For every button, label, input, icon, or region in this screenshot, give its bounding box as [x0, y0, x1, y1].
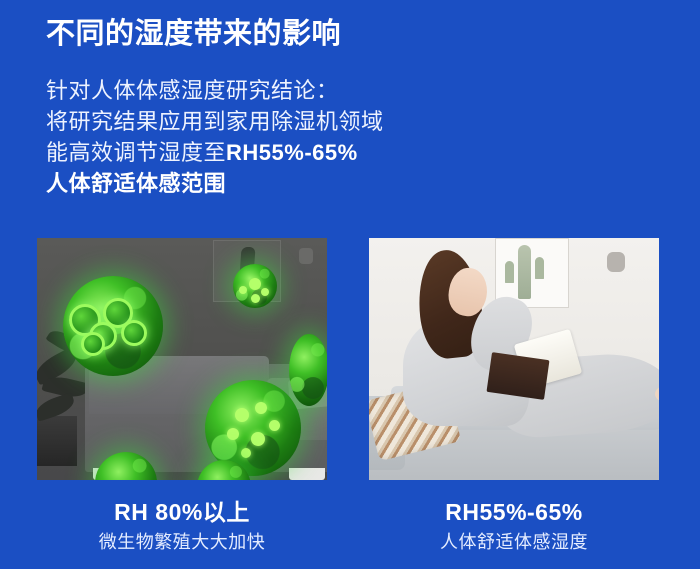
plant-pot	[37, 416, 77, 466]
intro-line-1: 针对人体体感湿度研究结论：	[46, 75, 466, 106]
caption-sub-text: 微生物繁殖大大加快	[37, 529, 327, 555]
caption-main-text: RH55%-65%	[369, 498, 659, 526]
photo-high-humidity	[37, 238, 327, 480]
microbe-virus-small	[233, 264, 277, 308]
wall-speaker-icon	[299, 248, 313, 264]
humidity-range-highlight: RH55%-65%	[226, 140, 358, 165]
intro-line-4: 人体舒适体感范围	[46, 168, 466, 199]
caption-main-text: RH 80%以上	[37, 498, 327, 526]
caption-comfort-humidity: RH55%-65% 人体舒适体感湿度	[369, 498, 659, 555]
intro-copy-block: 针对人体体感湿度研究结论： 将研究结果应用到家用除湿机领域 能高效调节湿度至RH…	[46, 75, 466, 199]
microbe-cluster-edge	[289, 334, 327, 406]
photo-comfort-humidity	[369, 238, 659, 480]
cactus-artwork	[518, 245, 531, 299]
intro-line-3: 能高效调节湿度至RH55%-65%	[46, 137, 466, 168]
microbe-cluster-edge	[197, 460, 251, 480]
microbe-cluster-edge	[95, 452, 157, 480]
intro-line-3-prefix: 能高效调节湿度至	[46, 140, 226, 165]
dim-living-room-scene	[37, 238, 327, 480]
intro-line-2: 将研究结果应用到家用除湿机领域	[46, 106, 466, 137]
microbe-cluster-large	[63, 276, 163, 376]
open-book-cover	[486, 352, 549, 400]
caption-sub-text: 人体舒适体感湿度	[369, 529, 659, 555]
bright-living-room-scene	[369, 238, 659, 480]
caption-high-humidity: RH 80%以上 微生物繁殖大大加快	[37, 498, 327, 555]
wall-speaker-icon	[607, 252, 625, 272]
page-title: 不同的湿度带来的影响	[46, 17, 341, 51]
humidity-infographic-page: 不同的湿度带来的影响 针对人体体感湿度研究结论： 将研究结果应用到家用除湿机领域…	[0, 0, 700, 569]
